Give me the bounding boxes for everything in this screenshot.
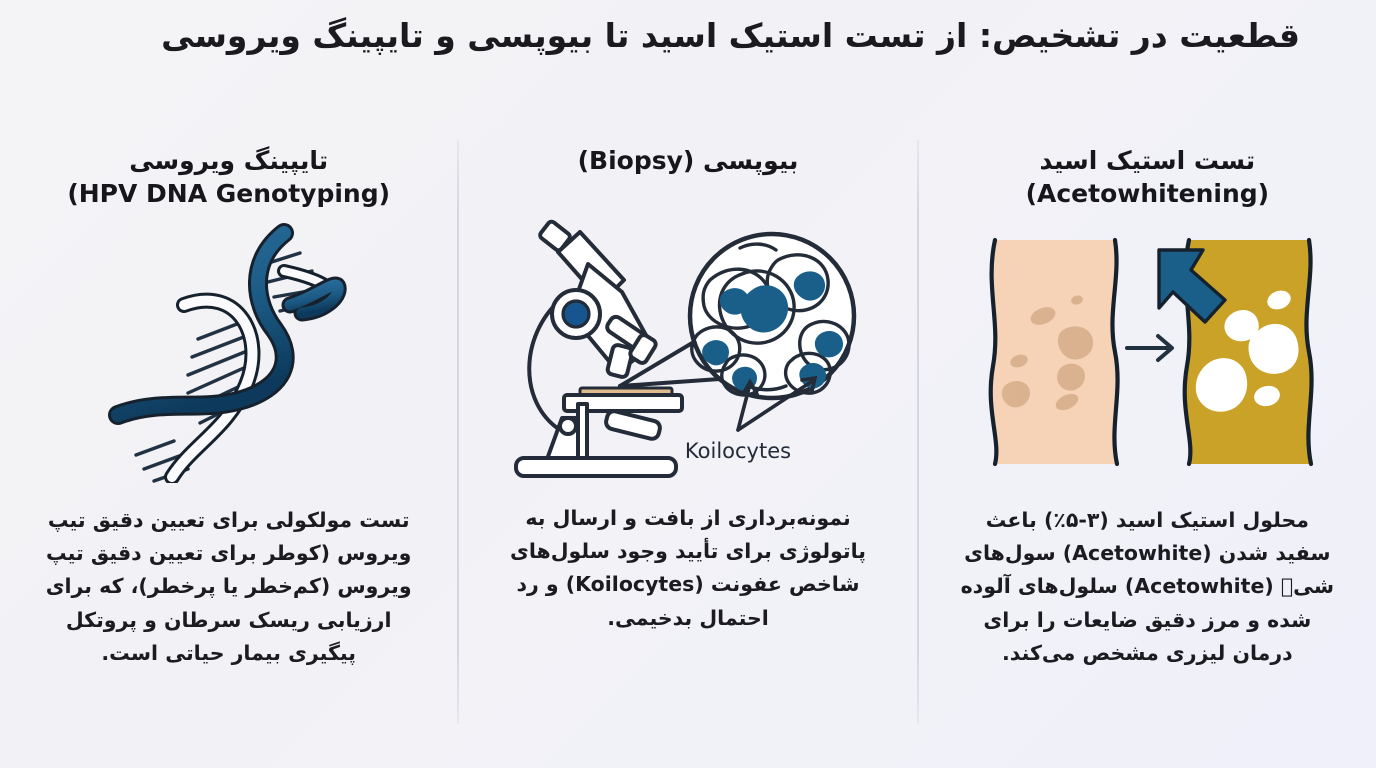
column-body-acetowhitening: محلول استیک اسید (۳-۵٪) باعث سفید شدن (A… xyxy=(958,504,1336,670)
microscope-base xyxy=(516,458,676,476)
transition-arrow-icon xyxy=(1127,336,1172,360)
column-heading-en: (HPV DNA Genotyping) xyxy=(67,177,390,210)
column-body-biopsy: نمونه‌برداری از بافت و ارسال به پاتولوژی… xyxy=(508,502,868,635)
column-hpv-genotyping: تایپینگ ویروسی (HPV DNA Genotyping) xyxy=(0,124,457,750)
biopsy-illustration: Koilocytes xyxy=(485,210,890,488)
column-body-hpv: تست مولکولی برای تعیین دقیق تیپ ویروس (ک… xyxy=(40,504,418,670)
column-heading-fa: بیوپسی (Biopsy) xyxy=(578,146,799,175)
page-title: قطعیت در تشخیص: از تست استیک اسید تا بیو… xyxy=(76,14,1300,58)
column-heading-acetowhitening: تست استیک اسید (Acetowhitening) xyxy=(1026,124,1270,210)
koilocyte-cell-view xyxy=(690,234,854,398)
dna-illustration xyxy=(26,212,431,490)
skin-strip-normal xyxy=(991,240,1118,464)
stage-adjust-arm xyxy=(605,410,662,441)
column-heading-fa: تست استیک اسید xyxy=(1040,146,1256,175)
objective-lens-2 xyxy=(607,344,634,378)
koilocytes-label: Koilocytes xyxy=(685,439,791,463)
skin-strip-acetowhite xyxy=(1185,240,1312,464)
acetowhitening-illustration xyxy=(945,212,1350,490)
comparison-columns: تست استیک اسید (Acetowhitening) xyxy=(0,124,1376,750)
focus-knob-icon xyxy=(563,301,589,327)
stage-knob-icon xyxy=(560,418,576,434)
column-heading-hpv: تایپینگ ویروسی (HPV DNA Genotyping) xyxy=(67,124,390,210)
column-heading-fa: تایپینگ ویروسی xyxy=(129,146,328,175)
column-heading-biopsy: بیوپسی (Biopsy) xyxy=(578,124,799,208)
column-heading-en: (Acetowhitening) xyxy=(1026,177,1270,210)
column-acetowhitening: تست استیک اسید (Acetowhitening) xyxy=(919,124,1376,750)
microscope-pillar xyxy=(578,404,587,460)
column-biopsy: بیوپسی (Biopsy) xyxy=(459,124,916,750)
